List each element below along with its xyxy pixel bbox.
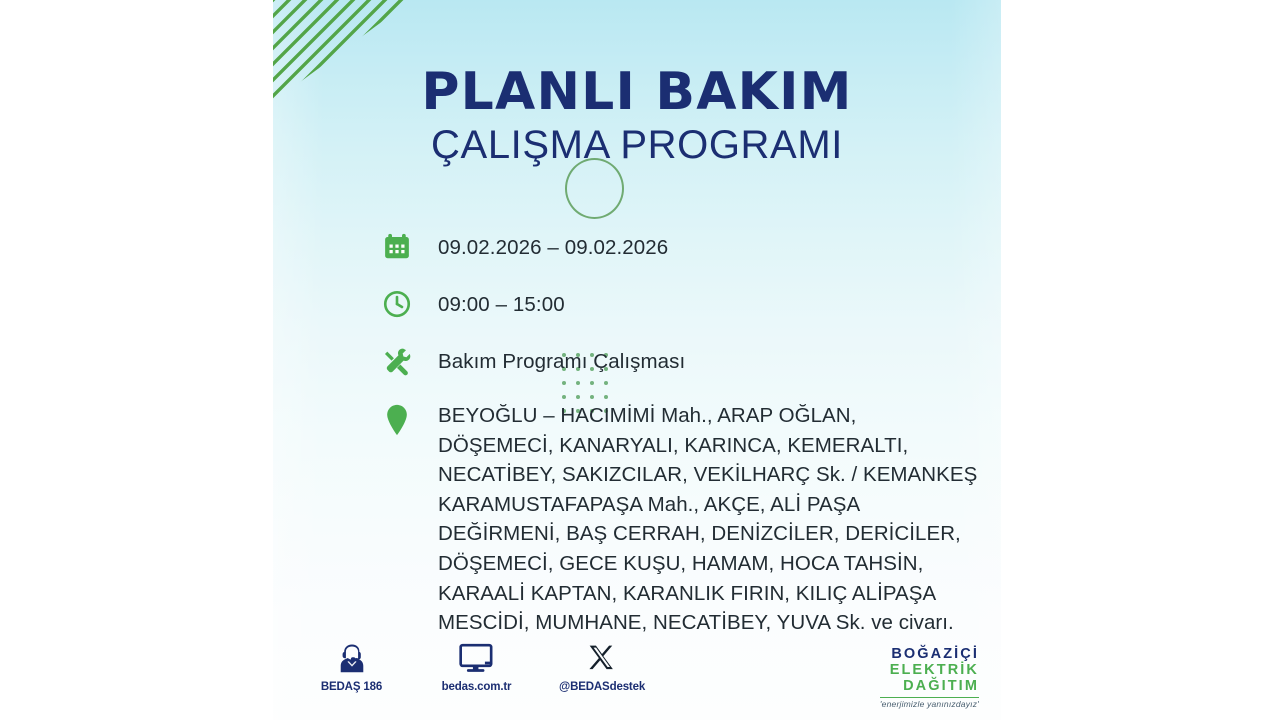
- contact-website[interactable]: bedas.com.tr: [434, 640, 519, 693]
- contact-phone[interactable]: BEDAŞ 186: [309, 640, 394, 693]
- info-row-address: BEYOĞLU – HACIMİMİ Mah., ARAP OĞLAN, DÖŞ…: [378, 399, 988, 638]
- calendar-icon: [378, 228, 416, 266]
- contact-website-label: bedas.com.tr: [434, 681, 519, 693]
- info-row-date: 09.02.2026 – 09.02.2026: [378, 228, 988, 266]
- info-list: 09.02.2026 – 09.02.2026 09:00 – 15:00: [378, 228, 988, 638]
- time-range-text: 09:00 – 15:00: [438, 285, 565, 318]
- contact-list: BEDAŞ 186 bedas.com.tr: [309, 640, 644, 693]
- announcement-card: PLANLI BAKIM ÇALIŞMA PROGRAMI: [273, 0, 1001, 720]
- brand-line-2: ELEKTRİK: [880, 662, 979, 678]
- title-block: PLANLI BAKIM ÇALIŞMA PROGRAMI: [273, 66, 1001, 165]
- tools-icon: [378, 342, 416, 380]
- clock-icon: [378, 285, 416, 323]
- support-headset-icon: [309, 640, 394, 676]
- brand-slogan: 'enerjimizle yanınızdayız': [880, 700, 979, 710]
- screenshot-root: PLANLI BAKIM ÇALIŞMA PROGRAMI: [0, 0, 1280, 720]
- page-subtitle: ÇALIŞMA PROGRAMI: [273, 125, 1001, 165]
- circle-outline-decoration: [565, 158, 624, 219]
- brand-line-1: BOĞAZİÇİ: [880, 646, 979, 662]
- monitor-icon: [434, 640, 519, 676]
- brand-line-3: DAĞITIM: [880, 678, 979, 694]
- footer: BEDAŞ 186 bedas.com.tr: [273, 640, 1001, 720]
- address-text: BEYOĞLU – HACIMİMİ Mah., ARAP OĞLAN, DÖŞ…: [438, 399, 977, 638]
- info-row-time: 09:00 – 15:00: [378, 285, 988, 323]
- location-pin-icon: [378, 399, 416, 439]
- contact-phone-label: BEDAŞ 186: [309, 681, 394, 693]
- page-title: PLANLI BAKIM: [273, 66, 1001, 118]
- contact-x-label: @BEDASdestek: [559, 681, 644, 693]
- contact-x[interactable]: @BEDASdestek: [559, 640, 644, 693]
- info-row-work: Bakım Programı Çalışması: [378, 342, 988, 380]
- work-type-text: Bakım Programı Çalışması: [438, 342, 685, 375]
- bedas-logo: BOĞAZİÇİ ELEKTRİK DAĞITIM 'enerjimizle y…: [880, 646, 979, 710]
- brand-rule: [880, 697, 979, 699]
- date-range-text: 09.02.2026 – 09.02.2026: [438, 228, 668, 261]
- x-twitter-icon: [559, 640, 644, 676]
